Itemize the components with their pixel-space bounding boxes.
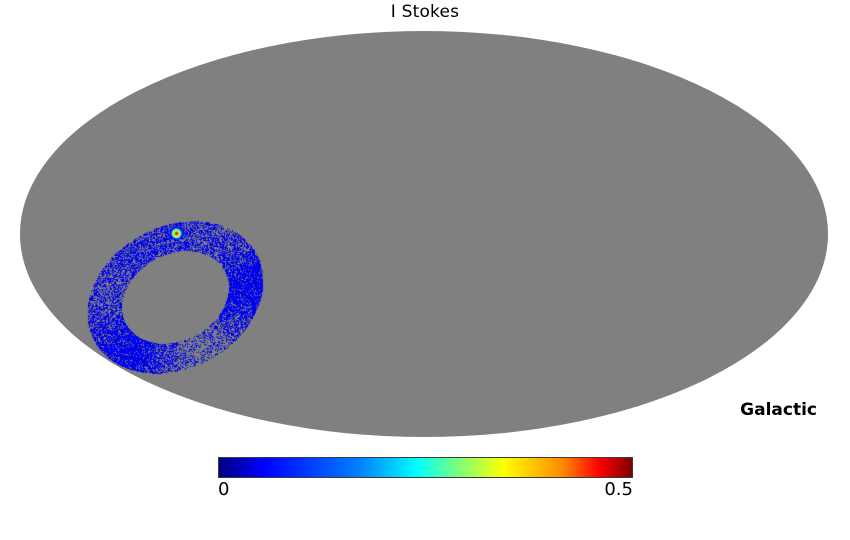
colorbar[interactable]: 0 0.5 (218, 457, 633, 503)
colorbar-gradient[interactable] (218, 457, 633, 478)
page-title: I Stokes (0, 2, 850, 22)
colorbar-max-tick: 0.5 (604, 479, 633, 500)
healpy-mollweide-figure: I Stokes Galactic 0 0.5 (0, 0, 850, 540)
colorbar-tick-labels: 0 0.5 (218, 479, 633, 503)
sky-data-layer (20, 31, 828, 437)
coordinate-system-label: Galactic (740, 400, 817, 420)
colorbar-min-tick: 0 (218, 479, 229, 500)
sky-map-projection (20, 31, 828, 437)
